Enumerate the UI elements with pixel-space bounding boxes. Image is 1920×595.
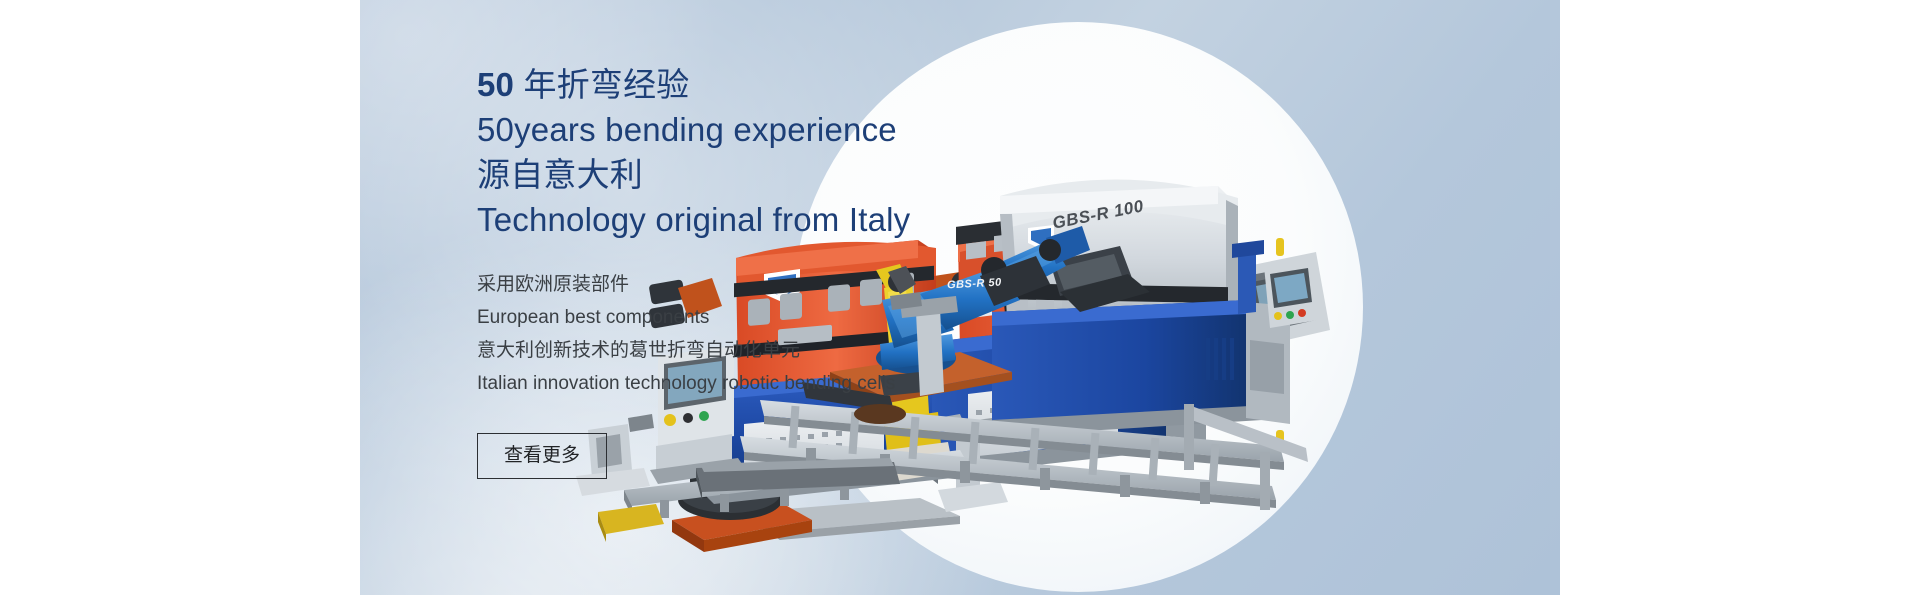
headline-line-3: 源自意大利 [477,152,1037,197]
subtext-line-3: 意大利创新技术的葛世折弯自动化单元 [477,334,1037,367]
hero-banner: GBS-R 100 GBS-R 50 50 年折弯经验 50years bend… [360,0,1560,595]
subtext-line-2: European best components [477,301,1037,334]
headline-line-1-text: 年折弯经验 [514,66,689,103]
view-more-button[interactable]: 查看更多 [477,433,607,479]
robot-base-top-left [672,470,812,552]
headline-line-1: 50 年折弯经验 [477,62,1037,107]
banner-copy: 50 年折弯经验 50years bending experience 源自意大… [477,62,1037,479]
headline-line-4: Technology original from Italy [477,197,1037,242]
subtext-line-4: Italian innovation technology robotic be… [477,367,1037,400]
headline-years-number: 50 [477,66,514,103]
hero-banner-page: GBS-R 100 GBS-R 50 50 年折弯经验 50years bend… [0,0,1920,595]
headline-line-2: 50years bending experience [477,107,1037,152]
